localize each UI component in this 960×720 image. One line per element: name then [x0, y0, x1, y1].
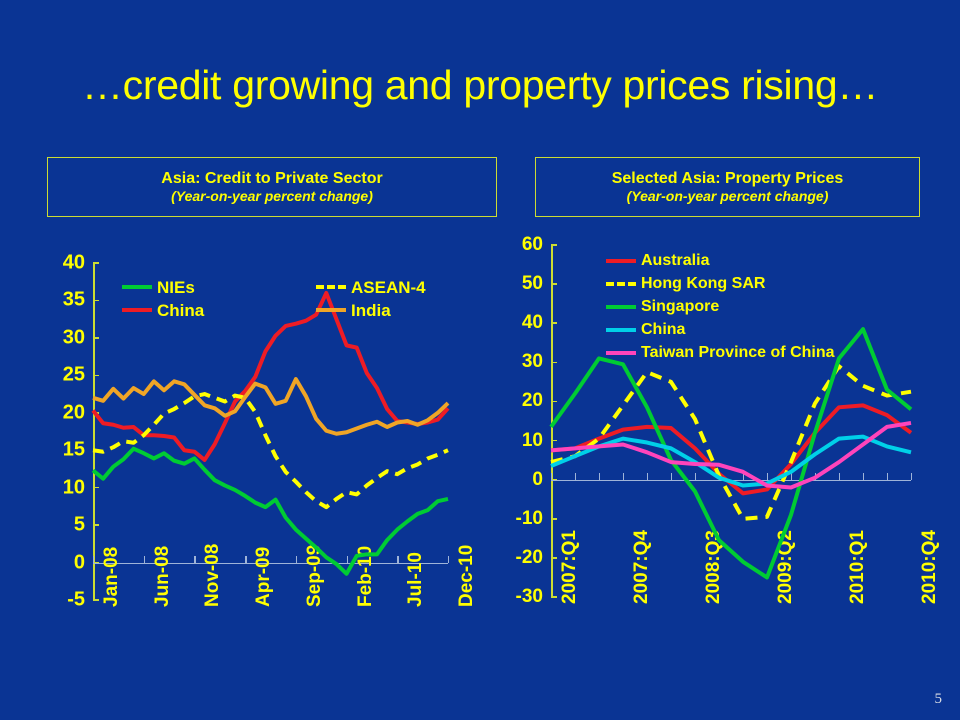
- x-axis-tick: [623, 473, 624, 480]
- series-line-taiwan-province-of-china: [551, 423, 911, 488]
- y-axis-tick: [551, 596, 557, 598]
- legend-label: Australia: [641, 253, 709, 269]
- y-axis-label: 0: [495, 469, 543, 491]
- y-axis-label: 20: [495, 390, 543, 412]
- y-axis-label: -20: [495, 547, 543, 569]
- x-axis-tick: [839, 473, 840, 480]
- x-axis-label: 2009:Q2: [775, 530, 797, 604]
- y-axis-label: 30: [495, 351, 543, 373]
- y-axis-line: [551, 245, 553, 597]
- y-axis-label: 60: [495, 234, 543, 256]
- legend-label: China: [641, 322, 685, 338]
- legend-item[interactable]: Australia: [606, 250, 835, 272]
- legend-item[interactable]: Taiwan Province of China: [606, 342, 835, 364]
- slide-canvas: …credit growing and property prices risi…: [0, 0, 960, 720]
- slide-number: 5: [935, 691, 943, 708]
- legend-item[interactable]: Singapore: [606, 296, 835, 318]
- y-axis-label: 10: [495, 430, 543, 452]
- y-axis-tick: [551, 401, 557, 403]
- legend-swatch-icon: [606, 282, 636, 286]
- x-axis-tick: [887, 473, 888, 480]
- x-axis-tick: [695, 473, 696, 480]
- legend-swatch-icon: [606, 351, 636, 355]
- y-axis-label: 40: [495, 312, 543, 334]
- x-axis-label: 2007:Q4: [631, 530, 653, 604]
- legend-item[interactable]: Hong Kong SAR: [606, 273, 835, 295]
- x-axis-tick: [767, 473, 768, 480]
- legend-label: Singapore: [641, 299, 719, 315]
- x-axis-tick: [911, 473, 912, 480]
- property-prices-chart: -30-20-1001020304050602007:Q12007:Q42008…: [0, 0, 960, 720]
- y-axis-label: -30: [495, 586, 543, 608]
- y-axis-tick: [551, 322, 557, 324]
- x-axis-tick: [551, 473, 552, 480]
- legend-swatch-icon: [606, 305, 636, 309]
- legend-label: Taiwan Province of China: [641, 345, 835, 361]
- x-axis-tick: [671, 473, 672, 480]
- legend-item[interactable]: China: [606, 319, 835, 341]
- y-axis-tick: [551, 557, 557, 559]
- y-axis-label: 50: [495, 273, 543, 295]
- x-axis-label: 2010:Q4: [919, 530, 941, 604]
- y-axis-tick: [551, 362, 557, 364]
- x-axis-tick: [791, 473, 792, 480]
- series-line-china: [551, 437, 911, 486]
- chart-legend: AustraliaHong Kong SARSingaporeChinaTaiw…: [606, 250, 835, 365]
- x-axis-tick: [647, 473, 648, 480]
- y-axis-tick: [551, 283, 557, 285]
- x-axis-label: 2008:Q3: [703, 530, 725, 604]
- series-line-hong-kong-sar: [551, 366, 911, 519]
- x-axis-tick: [719, 473, 720, 480]
- x-axis-tick: [575, 473, 576, 480]
- zero-baseline: [551, 480, 911, 481]
- x-axis-tick: [599, 473, 600, 480]
- legend-swatch-icon: [606, 328, 636, 332]
- legend-label: Hong Kong SAR: [641, 276, 765, 292]
- x-axis-label: 2007:Q1: [559, 530, 581, 604]
- y-axis-tick: [551, 244, 557, 246]
- y-axis-tick: [551, 518, 557, 520]
- y-axis-tick: [551, 440, 557, 442]
- y-axis-label: -10: [495, 508, 543, 530]
- x-axis-label: 2010:Q1: [847, 530, 869, 604]
- x-axis-tick: [863, 473, 864, 480]
- x-axis-tick: [743, 473, 744, 480]
- legend-swatch-icon: [606, 259, 636, 263]
- x-axis-tick: [815, 473, 816, 480]
